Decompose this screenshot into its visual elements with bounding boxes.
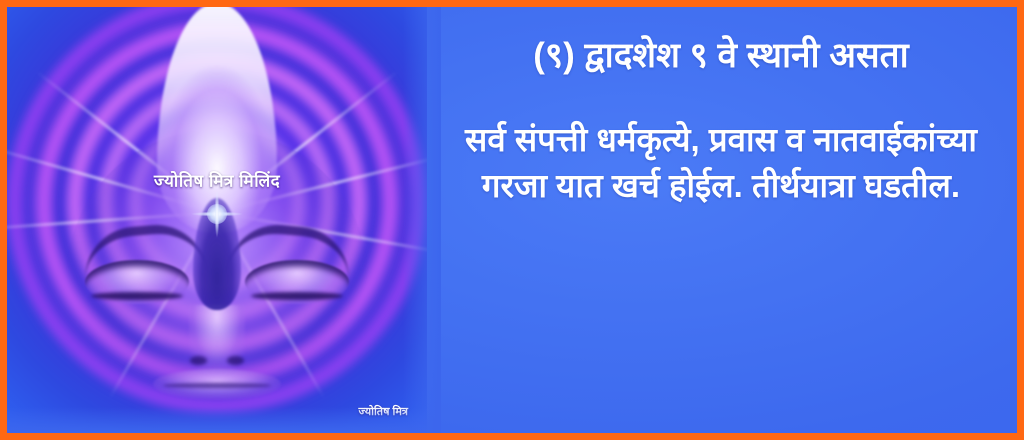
watermark-corner: ज्योतिष मित्र <box>358 404 408 419</box>
nostril-left <box>190 356 207 365</box>
text-panel: (९) द्वादशेश ९ वे स्थानी असता सर्व संपत्… <box>433 7 1017 433</box>
slide-container: ज्योतिष मित्र मिलिंद ज्योतिष मित्र (९) द… <box>0 0 1024 440</box>
star-glow <box>207 204 227 224</box>
nostril-right <box>227 356 244 365</box>
star-spark-icon <box>191 188 243 240</box>
lips <box>153 369 281 399</box>
body-text: सर्व संपत्ती धर्मकृत्ये, प्रवास व नातवाई… <box>447 117 995 209</box>
artwork-panel: ज्योतिष मित्र मिलिंद ज्योतिष मित्र <box>7 7 427 433</box>
eye-right-closed <box>245 260 349 304</box>
eye-left-closed <box>85 260 189 304</box>
nose <box>189 305 245 371</box>
watermark-main: ज्योतिष मित्र मिलिंद <box>154 168 280 191</box>
headline: (९) द्वादशेश ९ वे स्थानी असता <box>533 33 908 79</box>
